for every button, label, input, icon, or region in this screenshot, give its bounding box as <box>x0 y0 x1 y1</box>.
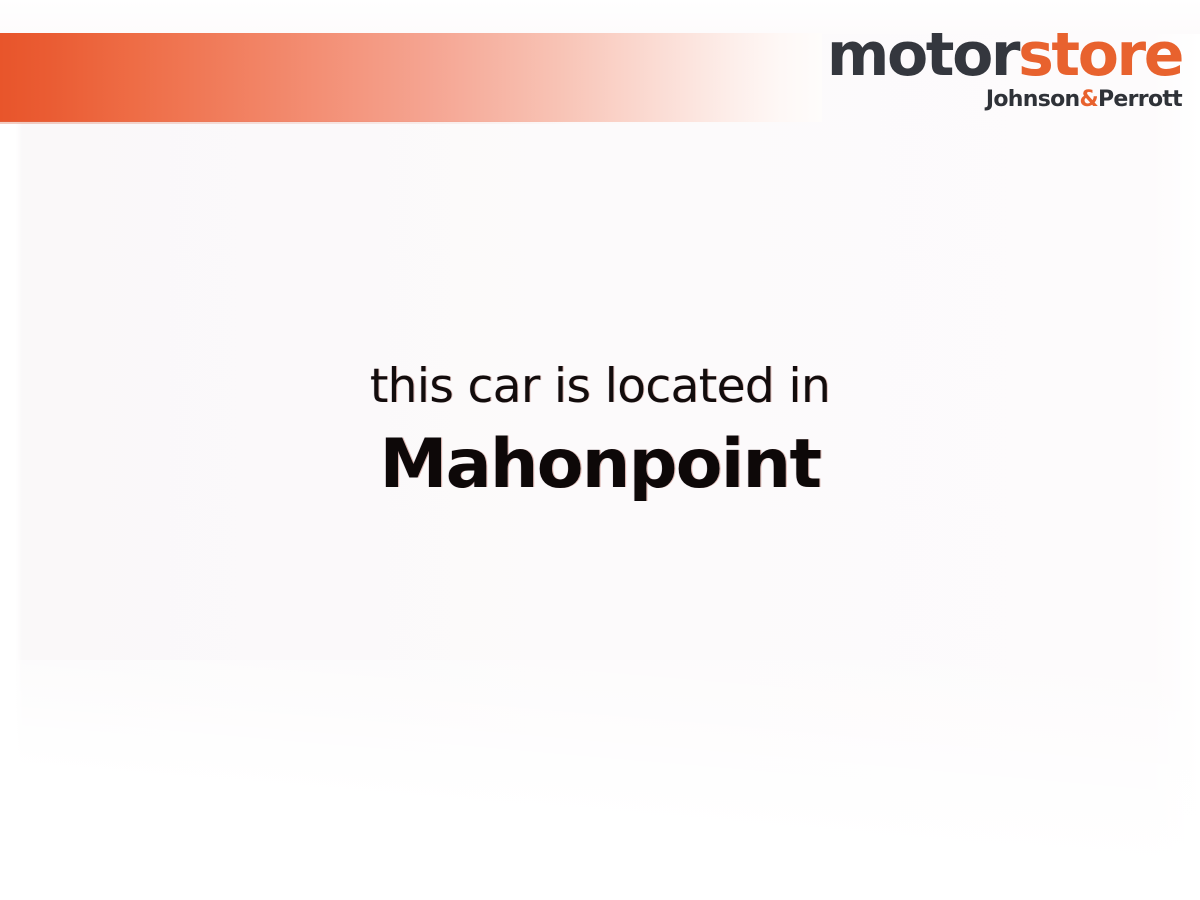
logo-subtitle-ampersand: & <box>1080 87 1099 112</box>
logo-subtitle-johnson: Johnson <box>986 87 1080 112</box>
logo-wordmark-motor: motor <box>827 20 1018 90</box>
location-message-intro: this car is located in <box>0 358 1200 416</box>
logo-subtitle: Johnson&Perrott <box>827 88 1182 112</box>
location-name: Mahonpoint <box>0 426 1200 504</box>
logo-subtitle-perrott: Perrott <box>1098 87 1182 112</box>
header: motorstore Johnson&Perrott <box>0 0 1200 132</box>
logo-wordmark-store: store <box>1018 20 1182 90</box>
motorstore-logo[interactable]: motorstore Johnson&Perrott <box>827 24 1182 112</box>
location-card-canvas: motorstore Johnson&Perrott this car is l… <box>0 0 1200 900</box>
orange-gradient-bar <box>0 33 822 122</box>
background-bottom-wash <box>0 660 1200 900</box>
location-message: this car is located in Mahonpoint <box>0 358 1200 504</box>
logo-wordmark: motorstore <box>827 24 1182 86</box>
